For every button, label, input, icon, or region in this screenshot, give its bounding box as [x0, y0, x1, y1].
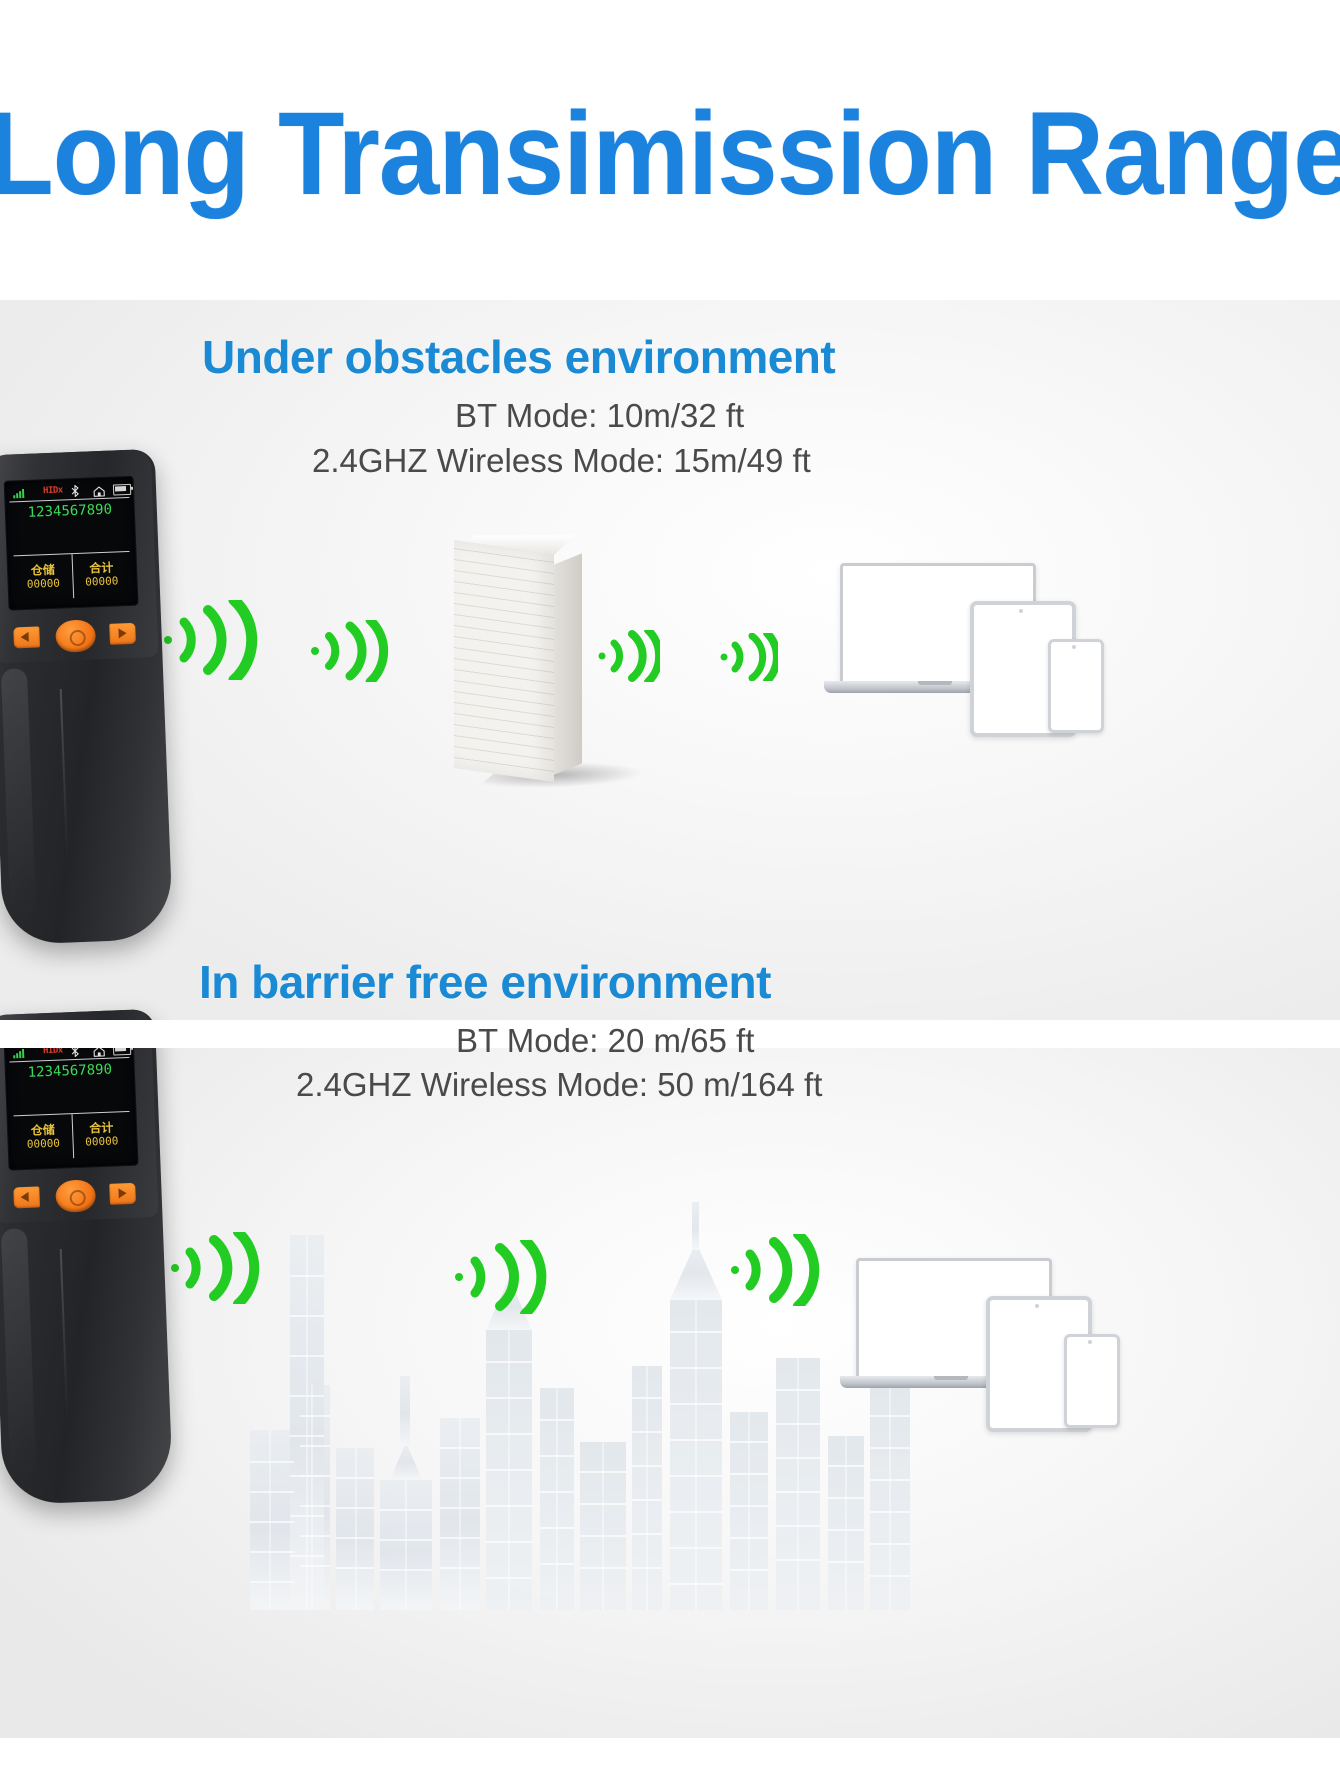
column-value: 00000 — [85, 1134, 119, 1148]
table-column-warehouse: 仓储 00000 — [14, 554, 73, 600]
wave-group-1 — [160, 600, 270, 680]
column-value: 00000 — [27, 577, 61, 591]
signal-bars-icon — [13, 1049, 24, 1058]
device-cluster-barrier-free — [838, 1258, 1128, 1438]
wave-group-3 — [596, 630, 660, 682]
barcode-scanner-device: HIDx 1234567890 仓储 00000 合计 00000 — [0, 1009, 173, 1505]
barcode-scanner-device: HIDx 1234567890 仓储 00000 合计 00000 — [0, 449, 173, 945]
wave-group-4 — [718, 633, 778, 681]
table-column-total: 合计 00000 — [71, 1112, 131, 1158]
column-header: 仓储 — [31, 564, 56, 578]
heading-barrier-free: In barrier free environment — [199, 955, 771, 1009]
table-column-warehouse: 仓储 00000 — [14, 1114, 73, 1160]
barcode-value: 1234567890 — [6, 1061, 135, 1082]
title-band: Long Transimission Range — [0, 0, 1340, 290]
signal-bars-icon — [13, 489, 24, 498]
right-arrow-button[interactable] — [109, 1183, 136, 1205]
wall-front-face — [454, 540, 554, 782]
product-feature-page: Long Transimission Range — [0, 0, 1340, 1785]
column-value: 00000 — [85, 574, 119, 588]
laptop-notch — [934, 1376, 968, 1380]
table-column-total: 合计 00000 — [71, 552, 131, 598]
hid-mode-label: HIDx — [43, 485, 63, 496]
right-arrow-button[interactable] — [109, 623, 136, 645]
spec-wireless-mode-obstacles: 2.4GHZ Wireless Mode: 15m/49 ft — [312, 442, 811, 480]
scanner-count-table: 仓储 00000 合计 00000 — [14, 1111, 132, 1160]
left-arrow-button[interactable] — [13, 626, 40, 648]
column-header: 合计 — [89, 561, 114, 575]
battery-icon — [113, 484, 131, 496]
bluetooth-icon — [71, 484, 79, 496]
device-cluster-obstacles — [822, 563, 1112, 733]
column-value: 00000 — [27, 1137, 61, 1151]
bottom-margin — [0, 1738, 1340, 1785]
laptop-notch — [918, 681, 952, 685]
wave-group-6 — [452, 1240, 548, 1314]
spec-bt-mode-barrier: BT Mode: 20 m/65 ft — [456, 1022, 754, 1060]
column-header: 仓储 — [31, 1124, 56, 1138]
wave-group-7 — [728, 1234, 820, 1306]
scanner-count-table: 仓储 00000 合计 00000 — [14, 551, 132, 600]
home-icon — [93, 484, 105, 495]
brick-wall-obstacle — [444, 537, 589, 782]
section-barrier-free — [0, 1048, 1340, 1738]
barcode-value: 1234567890 — [6, 501, 135, 522]
left-arrow-button[interactable] — [13, 1186, 40, 1208]
wave-group-5 — [168, 1232, 260, 1304]
wall-side-face — [554, 553, 582, 774]
column-header: 合计 — [89, 1121, 114, 1135]
scanner-button-row — [5, 617, 148, 656]
scan-trigger-button[interactable] — [55, 619, 96, 653]
phone-device — [1064, 1334, 1120, 1428]
page-title: Long Transimission Range — [0, 95, 1340, 213]
scanner-screen: HIDx 1234567890 仓储 00000 合计 00000 — [4, 476, 139, 611]
heading-under-obstacles: Under obstacles environment — [202, 330, 835, 384]
scanner-screen: HIDx 1234567890 仓储 00000 合计 00000 — [4, 1036, 139, 1171]
scan-trigger-button[interactable] — [55, 1179, 96, 1213]
scanner-button-row — [5, 1177, 148, 1216]
wave-group-2 — [308, 620, 392, 682]
spec-bt-mode-obstacles: BT Mode: 10m/32 ft — [455, 397, 744, 435]
phone-device — [1048, 639, 1104, 733]
spec-wireless-mode-barrier: 2.4GHZ Wireless Mode: 50 m/164 ft — [296, 1066, 822, 1104]
